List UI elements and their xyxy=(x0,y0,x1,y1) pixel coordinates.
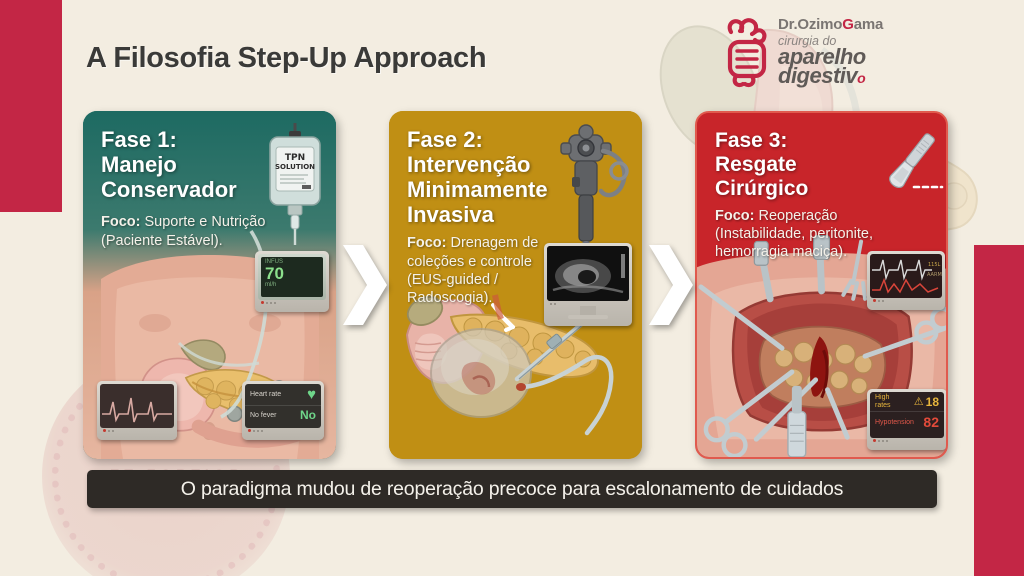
arrow-phase2-to-phase3 xyxy=(647,243,695,327)
warning-triangle-icon: ⚠ xyxy=(914,395,924,408)
vitals-row-heart-rate: Heart rate ♥ xyxy=(245,384,321,406)
alert-label-hypotension: Hypotension xyxy=(875,419,914,426)
vitals-monitor-panel[interactable]: Heart rate ♥ No fever No xyxy=(242,381,324,440)
alert-value-high-rates: 18 xyxy=(926,395,939,409)
alert-row-hypotension: Hypotension 82 xyxy=(870,412,944,432)
vitals-row-fever: No fever No xyxy=(245,406,321,424)
stomach-intestine-icon xyxy=(722,15,772,89)
caption-text: O paradigma mudou de reoperação precoce … xyxy=(181,478,843,501)
ecg-value-1: 115L xyxy=(928,262,941,268)
slide-canvas: THE SURGEON ET FORTIOR Dr.OzimoGama ciru… xyxy=(0,0,1024,576)
vitals-value-fever: No xyxy=(300,408,316,422)
scalpel-icon xyxy=(882,129,944,201)
vitals-label-fever: No fever xyxy=(250,412,276,419)
phase-card-3[interactable]: 115L AARM High rates ⚠ 18 Hypotension 82 xyxy=(695,111,948,459)
heart-icon: ♥ xyxy=(307,386,316,403)
ecg-waveform-icon xyxy=(100,384,174,428)
arrow-phase1-to-phase2 xyxy=(341,243,389,327)
ultrasound-image xyxy=(547,246,629,301)
vitals-label-heart-rate: Heart rate xyxy=(250,391,281,398)
decorative-block-left xyxy=(0,0,62,212)
ecg-value-2: AARM xyxy=(927,272,942,278)
page-title: A Filosofia Step-Up Approach xyxy=(86,42,486,75)
ecg-monitor-panel[interactable] xyxy=(97,381,177,440)
phase-card-2[interactable]: Fase 2: Intervenção Minimamente Invasiva… xyxy=(389,111,642,459)
alert-label-high-rates: High rates xyxy=(875,394,891,409)
alert-monitor-panel[interactable]: High rates ⚠ 18 Hypotension 82 xyxy=(867,389,947,450)
decorative-block-right xyxy=(974,245,1024,576)
iv-bag-label-line2: SOLUTION xyxy=(275,163,315,171)
infusion-pump-panel[interactable]: INFUS 70 ml/h xyxy=(255,251,329,312)
alert-value-hypotension: 82 xyxy=(923,414,939,430)
logo-word-digestivo: digestivo xyxy=(778,65,883,87)
phase-card-1[interactable]: TPN SOLUTION INFUS 70 ml/h xyxy=(83,111,336,459)
tpn-iv-bag: TPN SOLUTION xyxy=(260,123,330,245)
ecg-alarm-monitor-panel[interactable]: 115L AARM xyxy=(867,251,945,310)
ultrasound-monitor-panel[interactable] xyxy=(544,243,632,326)
pump-rate-unit: ml/h xyxy=(265,282,319,288)
alert-row-high-rates: High rates ⚠ 18 xyxy=(870,392,944,412)
brand-logo: Dr.OzimoGama cirurgia do aparelho digest… xyxy=(722,8,930,96)
ecg-red-waveform-icon: 115L AARM xyxy=(870,254,942,298)
phase-card-2-focus: Foco: Drenagem de coleções e controle (E… xyxy=(407,234,557,307)
pump-rate-value: 70 xyxy=(265,265,319,282)
logo-doctor-name: Dr.OzimoGama xyxy=(778,17,883,32)
caption-bar: O paradigma mudou de reoperação precoce … xyxy=(87,470,937,508)
iv-bag-label-line1: TPN xyxy=(285,153,305,163)
